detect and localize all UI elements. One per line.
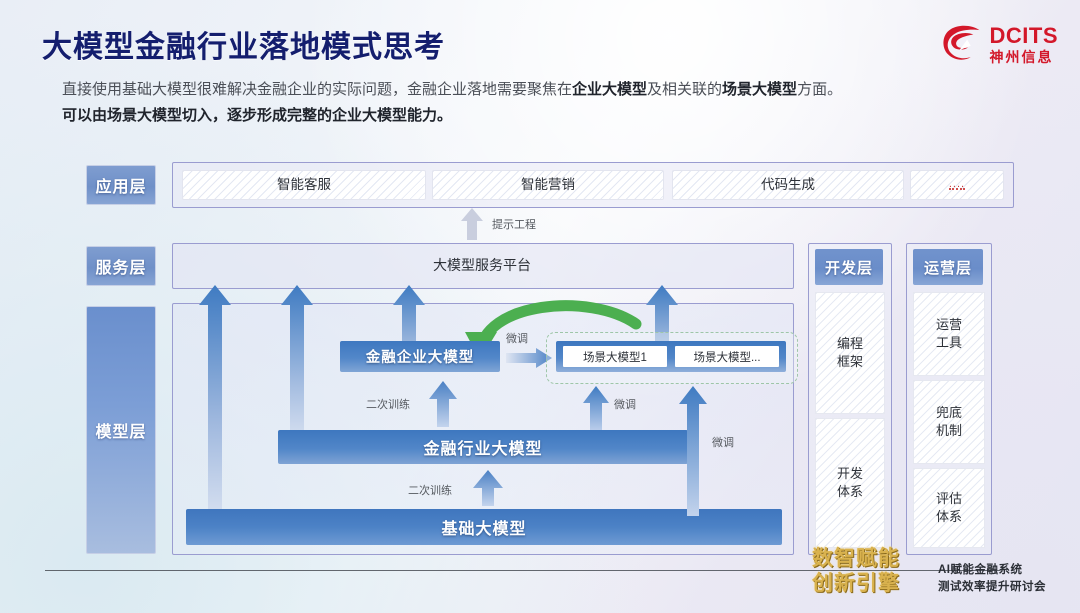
subtitle-part-1: 直接使用基础大模型很难解决金融企业的实际问题，金融企业落地需要聚焦在 — [62, 81, 572, 98]
subtitle-part-3: 方面。 — [797, 81, 842, 98]
ops-card-evaluation-system[interactable]: 评估体系 — [913, 468, 985, 548]
dev-card-2-label: 开发体系 — [837, 465, 863, 500]
page-subtitle: 直接使用基础大模型很难解决金融企业的实际问题，金融企业落地需要聚焦在企业大模型及… — [62, 78, 1022, 127]
flow-label-finetune-base: 微调 — [712, 434, 734, 450]
slide-canvas: 大模型金融行业落地模式思考 直接使用基础大模型很难解决金融企业的实际问题，金融企… — [0, 0, 1080, 613]
bar-enterprise-model[interactable]: 金融企业大模型 — [340, 341, 500, 372]
app-card-intelligent-service[interactable]: 智能客服 — [182, 170, 426, 200]
flow-label-prompt-engineering: 提示工程 — [492, 216, 536, 232]
column-head-development: 开发层 — [815, 249, 883, 285]
column-head-operations: 运营层 — [913, 249, 983, 285]
upward-arrow-base-to-service — [198, 285, 232, 533]
upward-arrow-secondary-training-industry — [472, 470, 504, 506]
upward-arrow-industry-to-service — [280, 285, 314, 453]
dev-card-development-system[interactable]: 开发体系 — [815, 418, 885, 548]
bar-industry-model[interactable]: 金融行业大模型 — [278, 430, 688, 464]
service-platform-label: 大模型服务平台 — [172, 243, 792, 287]
brand-logo: DCITS 神州信息 — [941, 24, 1059, 64]
scenario-model-1[interactable]: 场景大模型1 — [563, 346, 667, 367]
event-line-1: AI赋能金融系统 — [938, 562, 1046, 579]
subtitle-emphasis-scenario: 场景大模型 — [722, 81, 797, 98]
flow-label-secondary-training-2: 二次训练 — [408, 482, 452, 498]
subtitle-emphasis-enterprise: 企业大模型 — [572, 81, 647, 98]
scenario-model-2[interactable]: 场景大模型... — [675, 346, 779, 367]
event-name: AI赋能金融系统 测试效率提升研讨会 — [938, 562, 1046, 596]
ops-card-2-label: 兜底机制 — [936, 404, 962, 439]
ops-card-fallback-mechanism[interactable]: 兜底机制 — [913, 380, 985, 464]
dev-card-programming-framework[interactable]: 编程框架 — [815, 292, 885, 414]
ops-card-3-label: 评估体系 — [936, 490, 962, 525]
logo-text-cn: 神州信息 — [990, 50, 1059, 64]
prompt-engineering-arrow-icon — [460, 208, 484, 240]
ellipsis-label: .... — [949, 180, 965, 191]
layer-label-service: 服务层 — [86, 246, 156, 286]
subtitle-line-2: 可以由场景大模型切入，逐步形成完整的企业大模型能力。 — [62, 104, 1022, 127]
watermark-line-1: 数智赋能 — [812, 546, 932, 571]
ops-card-1-label: 运营工具 — [936, 316, 962, 351]
flow-label-finetune-enterprise: 微调 — [506, 330, 528, 346]
layer-label-model: 模型层 — [86, 306, 156, 554]
flow-label-secondary-training-1: 二次训练 — [366, 396, 410, 412]
event-watermark-logo: 数智赋能 创新引擎 — [812, 546, 932, 604]
dev-card-1-label: 编程框架 — [837, 335, 863, 370]
event-line-2: 测试效率提升研讨会 — [938, 579, 1046, 596]
dcits-swoosh-icon — [941, 24, 983, 64]
app-card-more[interactable]: .... — [910, 170, 1004, 200]
subtitle-part-2: 及相关联的 — [647, 81, 722, 98]
watermark-line-2: 创新引擎 — [812, 571, 932, 596]
layer-label-application: 应用层 — [86, 165, 156, 205]
flow-label-finetune-industry: 微调 — [614, 396, 636, 412]
upward-arrow-base-to-scenario — [678, 386, 708, 516]
app-card-intelligent-marketing[interactable]: 智能营销 — [432, 170, 664, 200]
upward-arrow-industry-to-scenario — [582, 386, 610, 430]
logo-text-en: DCITS — [990, 25, 1059, 47]
page-title: 大模型金融行业落地模式思考 — [42, 22, 445, 66]
ops-card-operation-tools[interactable]: 运营工具 — [913, 292, 985, 376]
upward-arrow-secondary-training-enterprise — [428, 381, 458, 427]
upward-arrow-enterprise-to-service — [392, 285, 426, 345]
app-card-code-generation[interactable]: 代码生成 — [672, 170, 904, 200]
